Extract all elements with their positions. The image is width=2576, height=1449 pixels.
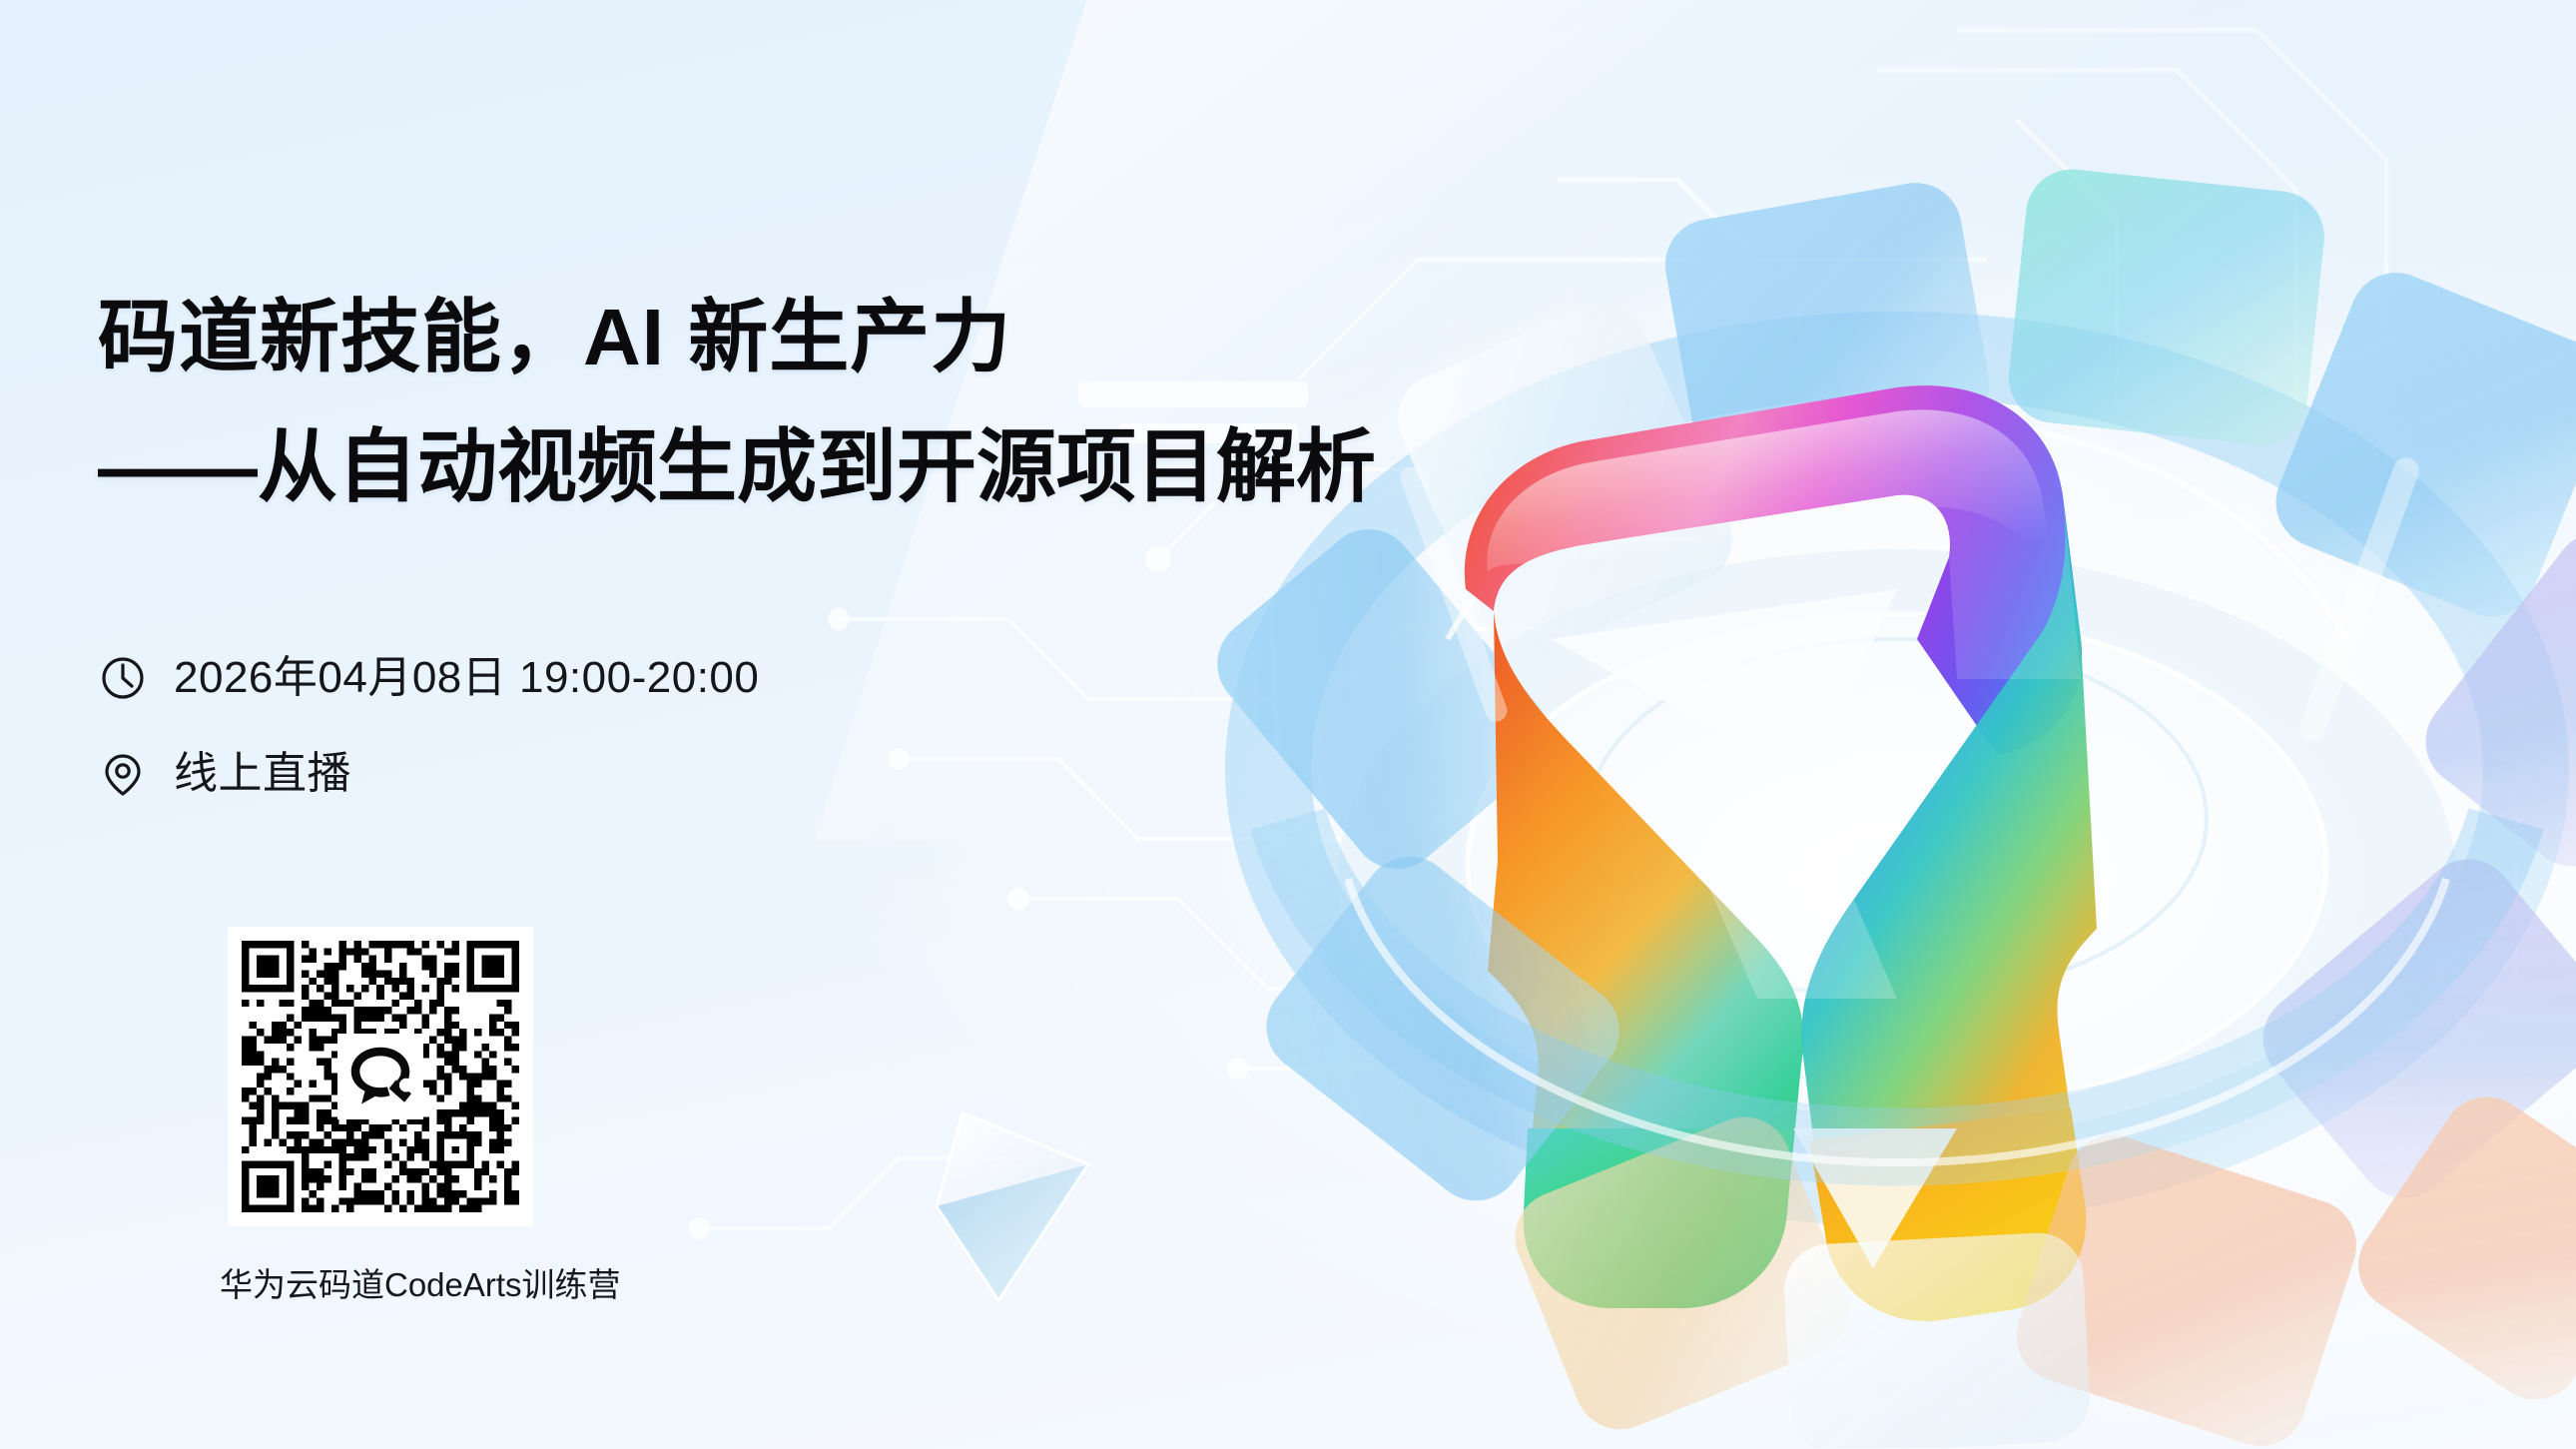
event-location-text: 线上直播 xyxy=(174,749,351,799)
qr-caption: 华为云码道CodeArts训练营 xyxy=(220,1264,525,1306)
page-title-line-1: 码道新技能，AI 新生产力 xyxy=(98,286,1426,389)
webinar-banner: 码道新技能，AI 新生产力 ——从自动视频生成到开源项目解析 2026年04月0… xyxy=(0,0,2576,1449)
glass-prism-decoration xyxy=(929,1094,1218,1334)
clock-icon xyxy=(98,653,148,703)
event-details: 2026年04月08日 19:00-20:00 线上直播 xyxy=(98,647,1426,805)
event-datetime-row: 2026年04月08日 19:00-20:00 xyxy=(98,647,1426,709)
qr-code-card[interactable] xyxy=(228,927,533,1226)
location-pin-icon xyxy=(98,749,148,799)
page-title-line-2: ——从自动视频生成到开源项目解析 xyxy=(98,415,1426,519)
event-location-row: 线上直播 xyxy=(98,743,1426,805)
chat-bubble-icon xyxy=(337,1034,423,1119)
event-datetime-text: 2026年04月08日 19:00-20:00 xyxy=(174,653,759,703)
content-column: 码道新技能，AI 新生产力 ——从自动视频生成到开源项目解析 2026年04月0… xyxy=(98,286,1426,839)
qr-block: 华为云码道CodeArts训练营 xyxy=(228,927,533,1306)
